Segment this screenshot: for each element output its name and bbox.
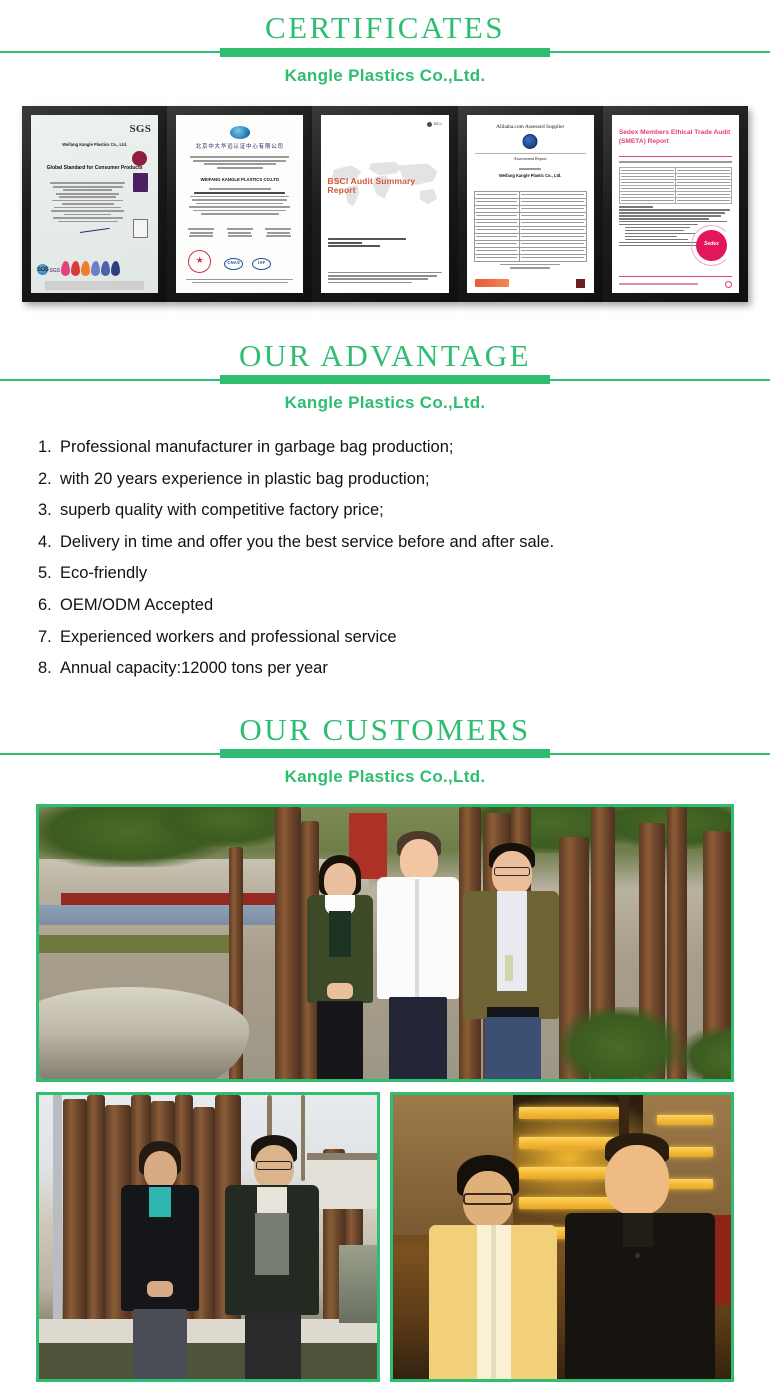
sgs-mark-icon	[133, 219, 148, 238]
list-item-number: 4.	[38, 530, 60, 556]
list-item-number: 5.	[38, 561, 60, 587]
photo-image	[39, 807, 731, 1079]
divider-thick-bar	[220, 48, 550, 57]
list-item-text: with 20 years experience in plastic bag …	[60, 467, 740, 493]
list-item-number: 3.	[38, 498, 60, 524]
certificate-alibaba-assessed-supplier[interactable]: Alibaba.com Assessed Supplier Assessment…	[458, 106, 603, 302]
divider-thick-bar	[220, 749, 550, 758]
alibaba-seal-icon	[523, 134, 538, 149]
certificate-sgs-global-standard[interactable]: SGS Weifang Kangle Plastics Co., Ltd. Gl…	[22, 106, 167, 302]
list-item-number: 6.	[38, 593, 60, 619]
report-table	[619, 167, 732, 204]
list-item: 5. Eco-friendly	[38, 561, 740, 587]
cqc-logo-icon	[230, 126, 250, 139]
certificate-image: BSCI BSCI Audit Summary Rep	[321, 115, 448, 293]
certificate-title: BSCI Audit Summary Report	[327, 177, 442, 196]
cnas-mark-icon: CNAS	[224, 258, 243, 270]
photo-image	[393, 1095, 731, 1379]
list-item: 8. Annual capacity:12000 tons per year	[38, 656, 740, 682]
certificate-image: 北京中大华远认证中心有限公司 WEIFANG KANGLE PLASTICS C…	[176, 115, 303, 293]
certificate-company-cn: 北京中大华远认证中心有限公司	[176, 143, 303, 151]
partner-logo-icon	[475, 279, 509, 287]
photo-pair-outdoors[interactable]	[36, 1092, 380, 1382]
certificate-image: Alibaba.com Assessed Supplier Assessment…	[467, 115, 594, 293]
customers-divider	[0, 749, 770, 758]
certificate-bsci-audit-summary[interactable]: BSCI BSCI Audit Summary Rep	[312, 106, 457, 302]
certificate-company-en: WEIFANG KANGLE PLASTICS CO.LTD	[176, 177, 303, 184]
iaf-mark-icon: IAF	[252, 258, 271, 270]
list-item-text: OEM/ODM Accepted	[60, 593, 740, 619]
list-item: 1. Professional manufacturer in garbage …	[38, 435, 740, 461]
sedex-logo-icon: Sedex	[696, 230, 727, 261]
list-item-text: Delivery in time and offer you the best …	[60, 530, 740, 556]
list-item-text: Eco-friendly	[60, 561, 740, 587]
sgs-badge-icon	[133, 173, 148, 192]
list-item-text: Experienced workers and professional ser…	[60, 625, 740, 651]
sgs-seal-icon	[132, 151, 147, 166]
list-item: 2. with 20 years experience in plastic b…	[38, 467, 740, 493]
certificate-company: Weifang Kangle Plastic Co., Ltd.	[467, 173, 594, 179]
certificates-title: CERTIFICATES	[0, 0, 770, 47]
customers-gallery	[0, 787, 770, 1382]
certificate-title: Sedex Members Ethical Trade Audit (SMETA…	[619, 128, 732, 147]
list-item-number: 7.	[38, 625, 60, 651]
list-item: 7. Experienced workers and professional …	[38, 625, 740, 651]
certificates-section-header: CERTIFICATES Kangle Plastics Co.,Ltd.	[0, 0, 770, 86]
certificate-subtitle: Assessment Report	[467, 156, 594, 163]
certificate-image: Sedex Members Ethical Trade Audit (SMETA…	[612, 115, 739, 293]
advantage-section-header: OUR ADVANTAGE Kangle Plastics Co.,Ltd.	[0, 328, 770, 414]
customers-title: OUR CUSTOMERS	[0, 702, 770, 749]
certificates-gallery: SGS Weifang Kangle Plastics Co., Ltd. Gl…	[0, 86, 770, 302]
certificate-iso-quality-management[interactable]: 北京中大华远认证中心有限公司 WEIFANG KANGLE PLASTICS C…	[167, 106, 312, 302]
list-item-number: 8.	[38, 656, 60, 682]
certificate-image: SGS Weifang Kangle Plastics Co., Ltd. Gl…	[31, 115, 158, 293]
list-item-number: 1.	[38, 435, 60, 461]
accreditation-logos: SGS SGS	[37, 259, 152, 276]
official-stamp-icon: ★	[188, 250, 211, 273]
customers-photo-row	[36, 1092, 734, 1382]
certificate-company: Weifang Kangle Plastics Co., Ltd.	[31, 142, 158, 148]
advantage-subtitle: Kangle Plastics Co.,Ltd.	[0, 384, 770, 413]
page-marker-icon	[725, 281, 732, 288]
divider-thick-bar	[220, 375, 550, 384]
list-item-text: Annual capacity:12000 tons per year	[60, 656, 740, 682]
certificate-sedex-smeta-report[interactable]: Sedex Members Ethical Trade Audit (SMETA…	[603, 106, 748, 302]
seal-icon	[576, 279, 585, 288]
advantage-list: 1. Professional manufacturer in garbage …	[0, 413, 770, 682]
list-item-text: superb quality with competitive factory …	[60, 498, 740, 524]
photo-pair-indoors[interactable]	[390, 1092, 734, 1382]
list-item-number: 2.	[38, 467, 60, 493]
assessment-table	[474, 191, 587, 262]
certificates-subtitle: Kangle Plastics Co.,Ltd.	[0, 57, 770, 86]
photo-image	[39, 1095, 377, 1379]
list-item-text: Professional manufacturer in garbage bag…	[60, 435, 740, 461]
list-item: 3. superb quality with competitive facto…	[38, 498, 740, 524]
advantage-divider	[0, 375, 770, 384]
advantage-title: OUR ADVANTAGE	[0, 328, 770, 375]
photo-group-of-three-outdoors[interactable]	[36, 804, 734, 1082]
list-item: 4. Delivery in time and offer you the be…	[38, 530, 740, 556]
certificate-header: Alibaba.com Assessed Supplier	[467, 123, 594, 131]
sgs-logo: SGS	[130, 121, 152, 138]
company-profile-page: CERTIFICATES Kangle Plastics Co.,Ltd. SG…	[0, 0, 770, 1382]
bsci-logo-icon: BSCI	[427, 122, 441, 127]
customers-section-header: OUR CUSTOMERS Kangle Plastics Co.,Ltd.	[0, 702, 770, 788]
customers-subtitle: Kangle Plastics Co.,Ltd.	[0, 758, 770, 787]
list-item: 6. OEM/ODM Accepted	[38, 593, 740, 619]
certificates-divider	[0, 48, 770, 57]
